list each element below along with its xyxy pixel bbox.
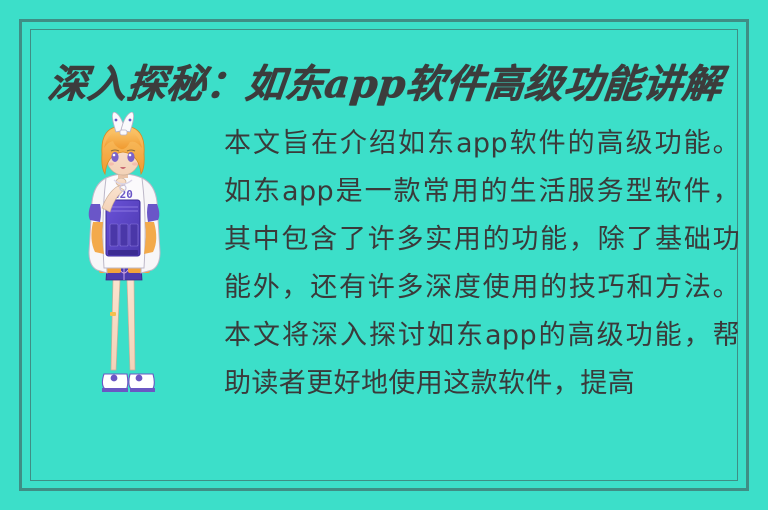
sneakers [102,374,155,392]
article-body-text: 本文旨在介绍如东app软件的高级功能。如东app是一款常用的生活服务型软件，其中… [224,120,740,408]
bunny-ear-hair-bow [112,112,133,135]
character-illustration: 420 [80,112,166,424]
character-svg: 420 [80,112,166,424]
article-card: 深入探秘：如东app软件高级功能讲解 [0,0,768,510]
legs [110,280,135,370]
page-title: 深入探秘：如东app软件高级功能讲解 [45,56,731,112]
